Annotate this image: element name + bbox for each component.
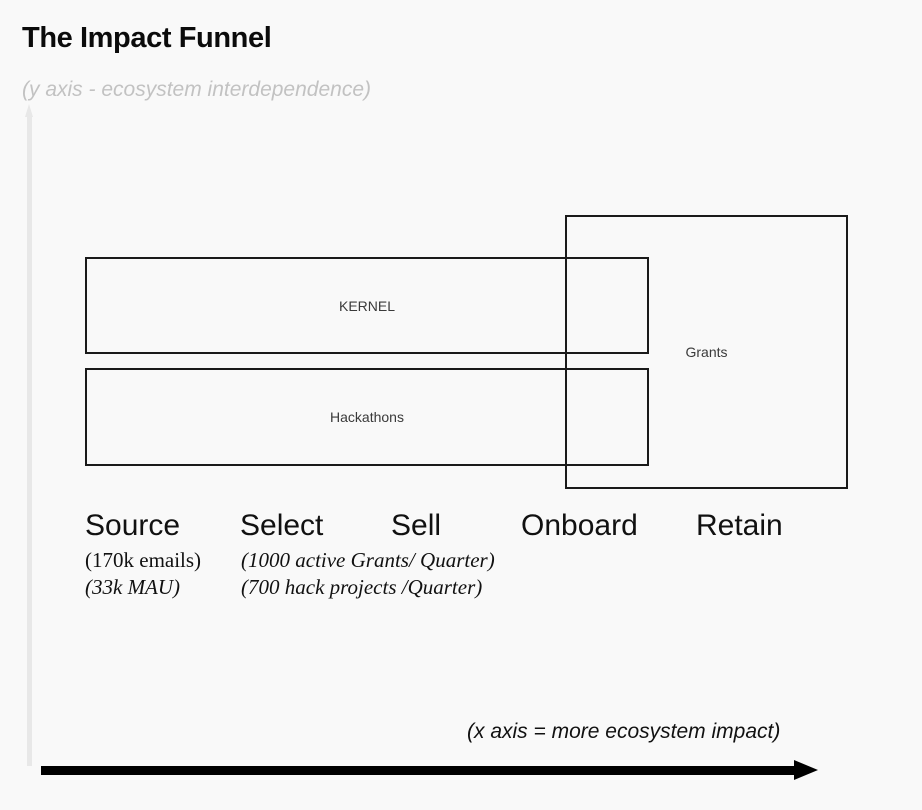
y-axis-shaft xyxy=(27,114,32,766)
arrow-right-icon xyxy=(794,760,818,780)
x-axis-arrow xyxy=(41,760,818,782)
metric-select-hack-projects: (700 hack projects /Quarter) xyxy=(241,575,482,600)
funnel-box-grants-label: Grants xyxy=(685,344,727,360)
funnel-box-kernel[interactable]: KERNEL xyxy=(85,257,649,354)
stage-label-retain: Retain xyxy=(696,509,783,543)
metric-source-mau: (33k MAU) xyxy=(85,575,180,600)
metric-source-emails: (170k emails) xyxy=(85,548,201,573)
stage-label-select: Select xyxy=(240,509,323,543)
page-title: The Impact Funnel xyxy=(22,22,271,55)
stage-label-onboard: Onboard xyxy=(521,509,638,543)
x-axis-shaft xyxy=(41,766,796,775)
funnel-box-kernel-label: KERNEL xyxy=(339,298,395,314)
metric-select-grants: (1000 active Grants/ Quarter) xyxy=(241,548,495,573)
y-axis-arrow xyxy=(25,104,34,766)
funnel-box-hackathons[interactable]: Hackathons xyxy=(85,368,649,466)
stage-label-source: Source xyxy=(85,509,180,543)
y-axis-label: (y axis - ecosystem interdependence) xyxy=(22,78,371,102)
funnel-box-hackathons-label: Hackathons xyxy=(330,409,404,425)
stage-label-sell: Sell xyxy=(391,509,441,543)
funnel-diagram-canvas: The Impact Funnel (y axis - ecosystem in… xyxy=(0,0,922,810)
x-axis-label: (x axis = more ecosystem impact) xyxy=(467,720,780,744)
